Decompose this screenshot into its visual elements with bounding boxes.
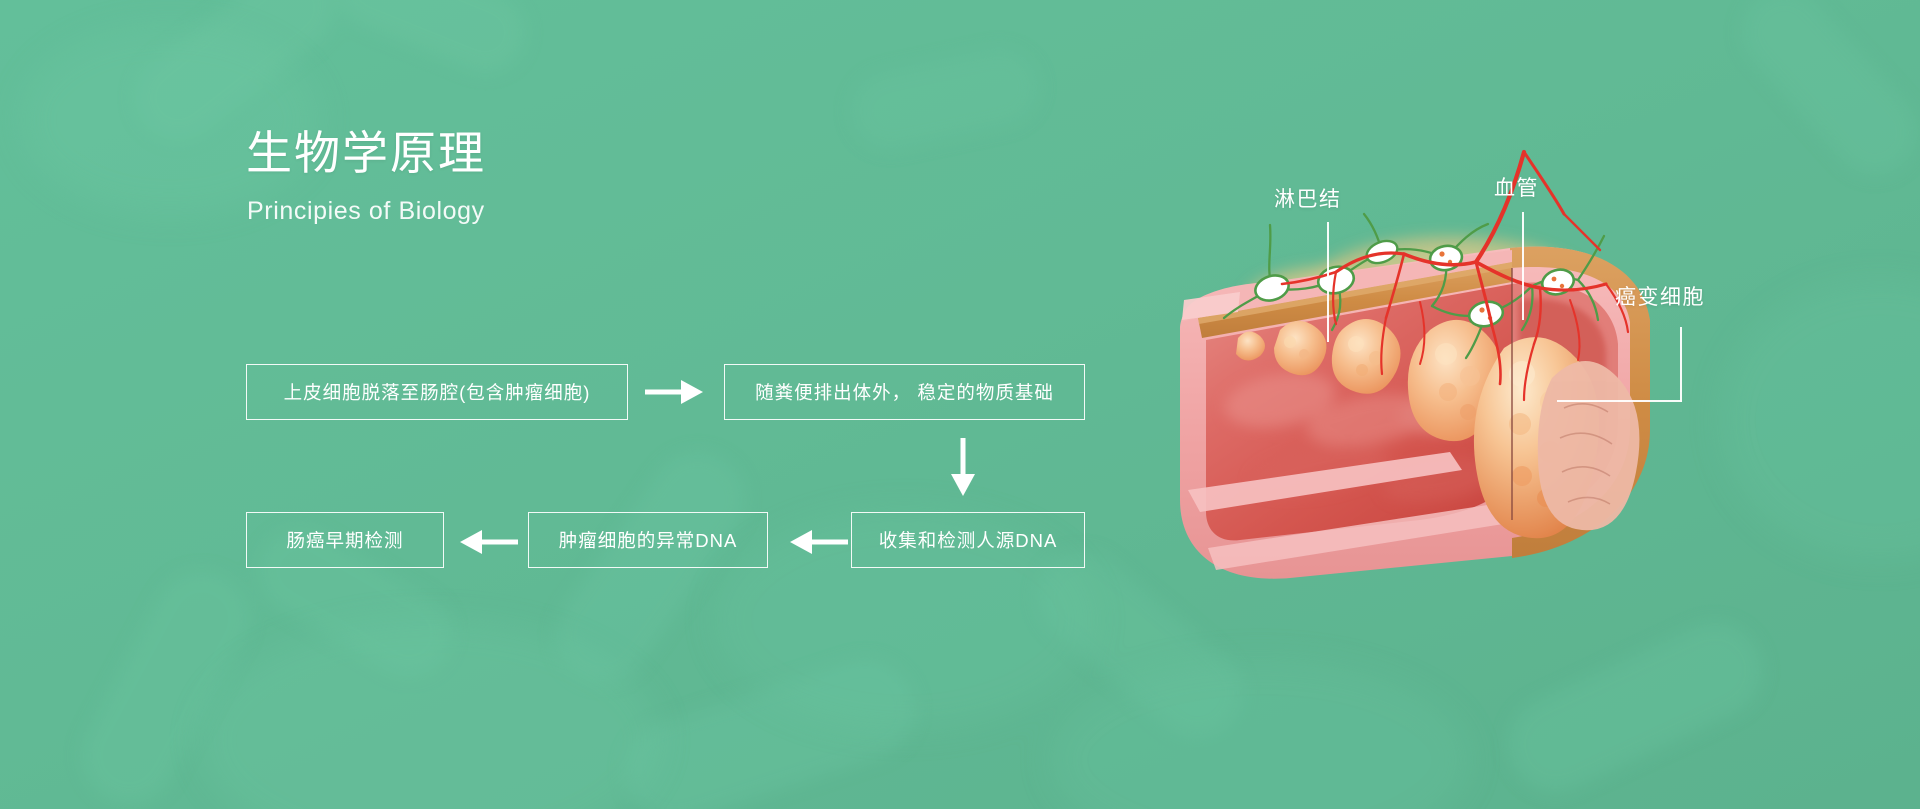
left-content-column: 生物学原理 Principies of Biology 上皮细胞脱落至肠腔(包含… <box>0 0 1150 809</box>
callout-label-cancer-cells: 癌变细胞 <box>1615 281 1705 311</box>
leader-line-cancer-horizontal <box>1557 400 1682 402</box>
flow-box-abnormal-dna[interactable]: 肿瘤细胞的异常DNA <box>528 512 768 568</box>
leader-line-lymph-node <box>1327 222 1329 342</box>
callout-label-lymph-node: 淋巴结 <box>1274 183 1342 213</box>
flow-box-shedding[interactable]: 上皮细胞脱落至肠腔(包含肿瘤细胞) <box>246 364 628 420</box>
arrow-left-icon-dna-to-detection <box>460 527 518 557</box>
flow-box-early-detection[interactable]: 肠癌早期检测 <box>246 512 444 568</box>
page-subtitle: Principies of Biology <box>247 197 485 226</box>
flow-box-stool-excretion[interactable]: 随粪便排出体外， 稳定的物质基础 <box>724 364 1085 420</box>
leader-line-blood-vessel <box>1522 212 1524 320</box>
leader-line-cancer-vertical <box>1680 327 1682 402</box>
arrow-left-icon-collect-to-dna <box>790 527 848 557</box>
intestine-illustration <box>1120 0 1920 809</box>
flow-box-collect-dna[interactable]: 收集和检测人源DNA <box>851 512 1085 568</box>
callout-label-blood-vessel: 血管 <box>1494 172 1539 202</box>
arrow-down-icon <box>948 438 978 496</box>
page-title: 生物学原理 <box>246 127 486 180</box>
arrow-right-icon <box>645 377 703 407</box>
